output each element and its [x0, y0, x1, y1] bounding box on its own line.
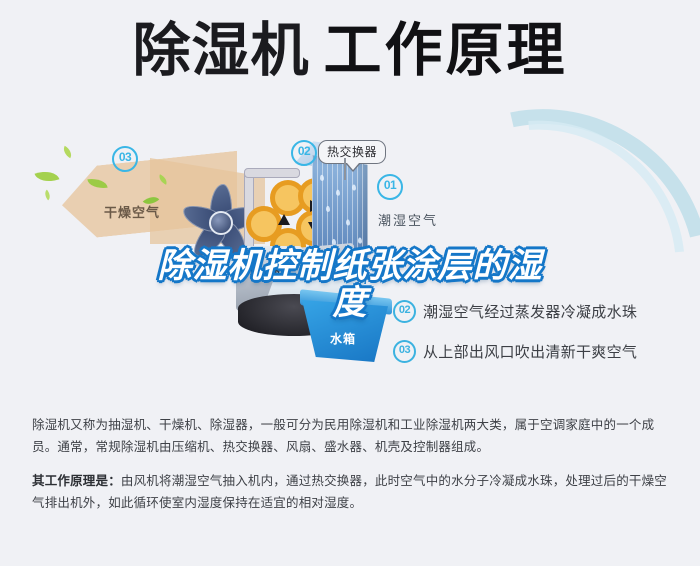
page-title-part-1: 除湿机 — [132, 18, 309, 83]
heat-exchanger-callout: 热交换器 — [318, 140, 386, 164]
paragraph-2-rest: 由风机将潮湿空气抽入机内，通过热交换器，此时空气中的水分子冷凝成水珠，处理过后的… — [32, 474, 667, 510]
paragraph-1: 除湿机又称为抽湿机、干燥机、除湿器，一般可分为民用除湿机和工业除湿机两大类，属于… — [32, 414, 672, 458]
page-title: 除湿机工作原理 — [0, 22, 700, 80]
leaf-icon — [35, 167, 60, 186]
paragraph-2: 其工作原理是：由风机将潮湿空气抽入机内，通过热交换器，此时空气中的水分子冷凝成水… — [32, 470, 672, 514]
legend-number: 02 — [393, 300, 416, 323]
diagram-marker-03: 03 — [112, 146, 138, 172]
water-tank-label: 水箱 — [330, 330, 356, 347]
callout-stem — [344, 158, 346, 180]
page-title-part-2: 工作原理 — [324, 18, 568, 83]
list-item: 03 从上部出风口吹出清新干爽空气 — [393, 340, 693, 363]
legend-label: 从上部出风口吹出清新干爽空气 — [423, 341, 637, 362]
leaf-icon — [61, 146, 75, 158]
paragraph-2-label: 其工作原理是： — [32, 474, 121, 488]
legend-label: 潮湿空气经过蒸发器冷凝成水珠 — [423, 301, 637, 322]
page-root: 除湿机工作原理 干燥空气 — [0, 0, 700, 566]
legend-list: 02 潮湿空气经过蒸发器冷凝成水珠 03 从上部出风口吹出清新干爽空气 — [393, 300, 693, 380]
diagram-marker-02: 02 — [291, 140, 317, 166]
body-copy: 除湿机又称为抽湿机、干燥机、除湿器，一般可分为民用除湿机和工业除湿机两大类，属于… — [32, 414, 672, 524]
legend-number: 03 — [393, 340, 416, 363]
diagram-marker-01: 01 — [377, 174, 403, 200]
list-item: 02 潮湿空气经过蒸发器冷凝成水珠 — [393, 300, 693, 323]
humid-air-label: 潮湿空气 — [378, 210, 438, 229]
dry-air-label: 干燥空气 — [104, 202, 160, 221]
leaf-icon — [42, 190, 52, 201]
